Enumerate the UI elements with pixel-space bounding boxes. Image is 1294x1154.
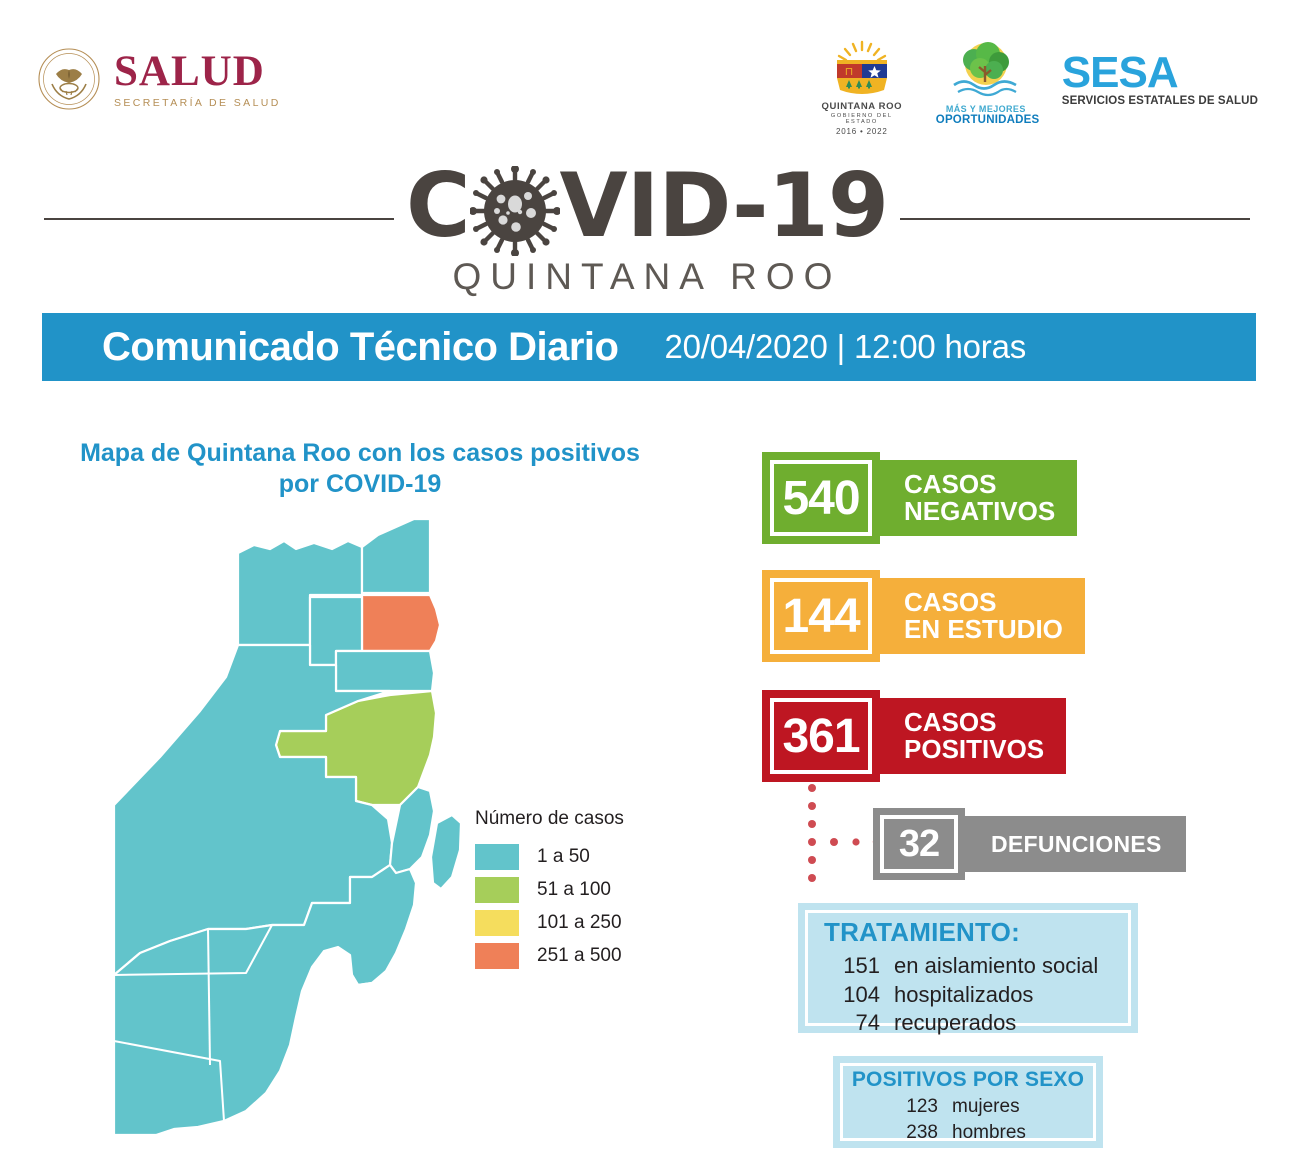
stat-value: 32 <box>899 823 939 866</box>
stat-label: CASOS NEGATIVOS <box>880 460 1077 536</box>
banner-title: Comunicado Técnico Diario <box>102 325 618 370</box>
tratamiento-row: 151 en aislamiento social <box>824 952 1138 981</box>
legend-swatch-51-a-100 <box>475 877 519 903</box>
stat-casos-en-estudio: 144 CASOS EN ESTUDIO <box>762 570 1085 662</box>
salud-wordmark: SALUD <box>114 50 281 93</box>
legend-label: 251 a 500 <box>537 945 622 967</box>
oportunidades-line1: MÁS Y MEJORES <box>936 104 1036 114</box>
tratamiento-row: 74 recuperados <box>824 1009 1138 1038</box>
sexo-text: hombres <box>952 1120 1050 1146</box>
svg-text:⊓: ⊓ <box>845 65 854 78</box>
legend-item: 1 a 50 <box>475 840 705 873</box>
legend-label: 101 a 250 <box>537 912 622 934</box>
legend-item: 101 a 250 <box>475 906 705 939</box>
map-bay-chetumal <box>328 975 372 1045</box>
legend-label: 1 a 50 <box>537 846 590 868</box>
sesa-wordmark: SESA <box>1062 52 1258 94</box>
map-title: Mapa de Quintana Roo con los casos posit… <box>70 438 650 501</box>
stat-defunciones: 32 DEFUNCIONES <box>873 808 1186 880</box>
stat-casos-positivos: 361 CASOS POSITIVOS <box>762 690 1066 782</box>
legend-title: Número de casos <box>475 808 705 830</box>
sexo-row: 123 mujeres <box>833 1094 1103 1120</box>
header-logos-group: ⊓ QUINTANA ROO GOBIERNO DEL ESTADO 2016 … <box>814 40 1258 140</box>
salud-subtitle: SECRETARÍA DE SALUD <box>114 97 281 109</box>
map-legend: Número de casos 1 a 50 51 a 100 101 a 25… <box>475 808 705 972</box>
quintana-roo-years: 2016 • 2022 <box>814 127 910 136</box>
page-subtitle: QUINTANA ROO <box>0 256 1294 298</box>
quintana-roo-map <box>100 505 520 1150</box>
stat-value: 361 <box>782 709 859 764</box>
mas-y-mejores-oportunidades-logo: MÁS Y MEJORES OPORTUNIDADES <box>936 40 1036 126</box>
page-header: SALUD SECRETARÍA DE SALUD ⊓ <box>0 0 1294 145</box>
stat-casos-negativos: 540 CASOS NEGATIVOS <box>762 452 1077 544</box>
stat-value-box: 144 <box>762 570 880 662</box>
panel-content: TRATAMIENTO: 151 en aislamiento social 1… <box>798 903 1138 1038</box>
stat-label: CASOS EN ESTUDIO <box>880 578 1085 654</box>
mexico-eagle-seal-icon <box>38 48 100 110</box>
sexo-value: 238 <box>886 1120 938 1146</box>
quintana-roo-gobierno: GOBIERNO DEL ESTADO <box>814 113 910 125</box>
legend-label: 51 a 100 <box>537 879 611 901</box>
map-island-cozumel <box>431 815 461 889</box>
legend-swatch-251-a-500 <box>475 943 519 969</box>
covid-title-block: C <box>0 148 1294 298</box>
tratamiento-heading: TRATAMIENTO: <box>824 917 1138 948</box>
tratamiento-value: 74 <box>824 1009 880 1038</box>
tratamiento-value: 104 <box>824 981 880 1010</box>
sexo-value: 123 <box>886 1094 938 1120</box>
oportunidades-line2: OPORTUNIDADES <box>936 114 1036 126</box>
stat-label: CASOS POSITIVOS <box>880 698 1066 774</box>
salud-logo: SALUD SECRETARÍA DE SALUD <box>38 48 281 110</box>
map-region-benito-juarez <box>362 595 440 651</box>
tratamiento-panel: TRATAMIENTO: 151 en aislamiento social 1… <box>798 903 1138 1033</box>
sexo-heading: POSITIVOS POR SEXO <box>833 1068 1103 1092</box>
tratamiento-text: recuperados <box>894 1009 1016 1038</box>
legend-item: 251 a 500 <box>475 939 705 972</box>
coronavirus-icon <box>470 166 560 256</box>
stat-value-box: 361 <box>762 690 880 782</box>
tree-water-icon <box>944 40 1028 102</box>
tratamiento-text: en aislamiento social <box>894 952 1098 981</box>
tratamiento-text: hospitalizados <box>894 981 1033 1010</box>
report-banner: Comunicado Técnico Diario 20/04/2020 | 1… <box>42 313 1256 381</box>
legend-swatch-101-a-250 <box>475 910 519 936</box>
banner-date: 20/04/2020 | 12:00 horas <box>664 328 1026 366</box>
legend-swatch-1-a-50 <box>475 844 519 870</box>
quintana-roo-logo: ⊓ QUINTANA ROO GOBIERNO DEL ESTADO 2016 … <box>814 40 910 136</box>
map-region-solidaridad-north <box>336 651 434 691</box>
positivos-por-sexo-panel: POSITIVOS POR SEXO 123 mujeres 238 hombr… <box>833 1056 1103 1148</box>
title-rest: VID-19 <box>560 154 889 257</box>
stat-value: 144 <box>782 589 859 644</box>
stat-label: DEFUNCIONES <box>965 816 1186 872</box>
tratamiento-row: 104 hospitalizados <box>824 981 1138 1010</box>
stat-value: 540 <box>782 471 859 526</box>
legend-item: 51 a 100 <box>475 873 705 906</box>
quintana-roo-name: QUINTANA ROO <box>814 101 910 112</box>
title-letter-c: C <box>406 154 470 257</box>
stat-value-box: 540 <box>762 452 880 544</box>
tratamiento-value: 151 <box>824 952 880 981</box>
stat-value-box: 32 <box>873 808 965 880</box>
panel-content: POSITIVOS POR SEXO 123 mujeres 238 hombr… <box>833 1056 1103 1145</box>
sesa-subtitle: SERVICIOS ESTATALES DE SALUD <box>1062 95 1258 107</box>
map-region-isla-mujeres <box>362 519 430 593</box>
page-title: C <box>0 162 1294 256</box>
sesa-logo: SESA SERVICIOS ESTATALES DE SALUD <box>1062 40 1258 107</box>
quintana-roo-shield-icon: ⊓ <box>823 40 901 98</box>
sexo-row: 238 hombres <box>833 1120 1103 1146</box>
sexo-text: mujeres <box>952 1094 1050 1120</box>
